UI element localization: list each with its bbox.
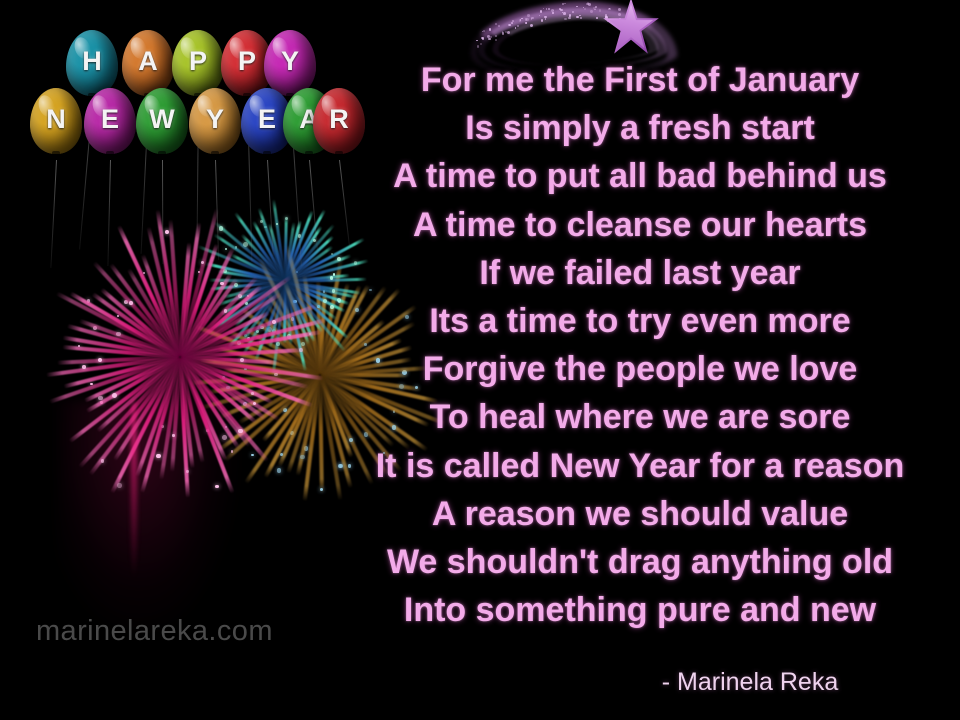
sparkle-dot [482, 31, 483, 32]
firework-ray [209, 373, 321, 394]
sparkle-dot [613, 22, 615, 24]
balloon-letter: Y [264, 30, 316, 96]
firework-spark [272, 320, 276, 324]
firework-spark [251, 392, 254, 395]
sparkle-dot [530, 24, 533, 27]
balloon-knot [106, 151, 114, 160]
sparkle-dot [605, 16, 607, 18]
poem-line: Its a time to try even more [320, 297, 960, 345]
firework-ray [239, 305, 321, 376]
firework-ray [57, 355, 180, 365]
poem-line: Into something pure and new [320, 586, 960, 634]
sparkle-dot [502, 31, 504, 33]
sparkle-dot [560, 9, 563, 12]
firework-ray [46, 355, 180, 377]
firework-ray [178, 272, 232, 358]
firework-ray [284, 281, 311, 345]
sparkle-dot [618, 8, 621, 11]
balloon-string [107, 160, 111, 266]
firework-ray [209, 279, 285, 283]
firework-spark [274, 373, 277, 376]
sparkle-dot [593, 7, 595, 9]
firework-ray [49, 355, 181, 404]
sparkle-dot [481, 37, 483, 39]
firework-ray [180, 330, 322, 359]
sparkle-dot [543, 8, 544, 9]
firework-ray [178, 247, 235, 358]
firework-ray [222, 280, 285, 299]
balloon-letter: W [136, 88, 188, 154]
firework-spark [251, 454, 254, 457]
firework-ray [179, 355, 274, 404]
firework-ray [79, 319, 181, 359]
balloon-string [162, 160, 163, 264]
firework-spark [226, 386, 230, 390]
sparkle-dot [508, 24, 511, 27]
poem-line: It is called New Year for a reason [320, 442, 960, 490]
sparkle-dot [576, 16, 579, 19]
sparkle-dot [599, 9, 602, 12]
firework-spark [238, 429, 242, 433]
sparkle-dot [546, 8, 548, 10]
balloon-string [50, 160, 57, 268]
sparkle-dot [559, 8, 561, 10]
firework-spark [90, 383, 92, 385]
firework-ray [84, 355, 181, 402]
firework-ray [286, 374, 321, 473]
balloon-knot [158, 151, 166, 160]
sparkle-dot [564, 3, 565, 4]
firework-spark [304, 446, 308, 450]
firework-ray [178, 243, 219, 357]
firework-ray [224, 373, 322, 461]
firework-ray [266, 291, 322, 376]
poem-line: We shouldn't drag anything old [320, 538, 960, 586]
firework-ray [191, 373, 320, 385]
poem-line: A reason we should value [320, 490, 960, 538]
sparkle-dot [569, 16, 570, 17]
firework-core [158, 333, 203, 378]
firework-ray [63, 355, 181, 389]
firework-ray [117, 225, 182, 358]
firework-ray [92, 292, 182, 358]
firework-ray [180, 355, 324, 380]
poem-line: A time to put all bad behind us [320, 152, 960, 200]
firework-ground-glow [58, 400, 238, 630]
balloon-body: N [30, 88, 82, 154]
sparkle-dot [502, 32, 505, 35]
sparkle-dot [627, 13, 630, 16]
sparkle-dot [614, 21, 615, 22]
firework-spark [116, 332, 120, 336]
balloon-e-1-1: E [84, 88, 136, 154]
sparkle-dot [539, 15, 540, 16]
sparkle-dot [527, 14, 530, 17]
firework-ray [56, 292, 181, 359]
firework-core [271, 266, 299, 294]
firework-spark [224, 309, 228, 313]
firework-spark [82, 365, 86, 369]
poem-line: A time to cleanse our hearts [320, 201, 960, 249]
firework-ray [179, 292, 282, 359]
firework-ray [284, 281, 307, 371]
firework-spark [260, 326, 263, 329]
sparkle-dot [580, 17, 582, 19]
balloon-knot [52, 151, 60, 160]
sparkle-dot [590, 10, 593, 13]
firework-ray [278, 374, 322, 467]
sparkle-dot [551, 9, 554, 12]
firework-ray [258, 258, 322, 376]
firework-ray [180, 355, 280, 365]
firework-spark [272, 329, 276, 333]
balloon-body: A [122, 30, 174, 96]
firework-ray [284, 281, 324, 334]
firework-spark [259, 341, 262, 344]
firework-ray [214, 234, 286, 283]
sparkle-dot [520, 19, 522, 21]
balloon-y-0-4: Y [264, 30, 316, 96]
sparkle-dot [572, 11, 574, 13]
firework-ray [284, 226, 323, 283]
firework-ray [242, 281, 286, 341]
firework-ray [69, 291, 181, 358]
balloon-knot [211, 151, 219, 160]
firework-ray [284, 222, 296, 282]
firework-spark [223, 269, 227, 273]
sparkle-dot [587, 2, 589, 4]
firework-spark [129, 301, 133, 305]
poem-text-block: For me the First of JanuaryIs simply a f… [320, 56, 960, 634]
firework-spark [201, 261, 204, 264]
new-year-greeting-image: HAPPYNEWYEAR For me the First of January… [0, 0, 960, 720]
firework-ray [180, 318, 328, 359]
firework-spark [243, 402, 247, 406]
firework-spark [237, 341, 241, 345]
sparkle-dot [531, 17, 534, 20]
firework-spark [124, 300, 128, 304]
firework-ray [109, 263, 182, 358]
sparkle-dot [515, 27, 517, 29]
firework-ray [254, 281, 286, 361]
firework-ray [296, 374, 322, 475]
sparkle-dot [562, 12, 564, 14]
firework-ray [238, 373, 321, 424]
balloon-p-0-2: P [172, 30, 224, 96]
firework-ray [272, 281, 287, 375]
firework-spark [253, 402, 256, 405]
sparkle-dot [517, 25, 519, 27]
firework-ray [242, 325, 322, 376]
sparkle-dot [507, 31, 510, 34]
sparkle-dot [488, 38, 491, 41]
sparkle-dot [594, 9, 596, 11]
firework-ray [156, 210, 182, 357]
sparkle-dot [552, 12, 554, 14]
firework-ray [218, 280, 286, 306]
firework-ray [241, 281, 286, 357]
firework-spark [244, 368, 247, 371]
balloon-string [267, 160, 274, 256]
sparkle-dot [588, 3, 591, 6]
sparkle-dot [495, 23, 497, 25]
firework-ray [146, 226, 181, 357]
sparkle-dot [490, 36, 492, 38]
firework-ray [220, 280, 286, 315]
firework-ray [228, 281, 286, 349]
firework-ray [282, 279, 321, 375]
sparkle-dot [563, 12, 566, 15]
sparkle-dot [483, 30, 485, 32]
firework-spark [143, 272, 145, 274]
sparkle-dot [521, 18, 522, 19]
firework-spark [98, 358, 102, 362]
sparkle-dot [541, 19, 544, 22]
firework-ray [284, 281, 293, 345]
balloon-knot [305, 151, 313, 160]
firework-spark [112, 393, 117, 398]
balloon-knot [263, 151, 271, 160]
sparkle-dot [629, 18, 631, 20]
firework-ray [180, 355, 309, 389]
balloon-letter: N [30, 88, 82, 154]
sparkle-dot [605, 16, 607, 18]
firework-spark [78, 345, 80, 347]
balloon-w-1-2: W [136, 88, 188, 154]
firework-ray [227, 329, 321, 377]
firework-spark [240, 358, 244, 362]
firework-ray [169, 220, 182, 358]
sparkle-dot [495, 35, 497, 37]
sparkle-dot [607, 20, 609, 22]
firework-ray [205, 262, 285, 283]
balloon-body: Y [189, 88, 241, 154]
balloon-y-1-3: Y [189, 88, 241, 154]
firework-ray [265, 302, 321, 375]
firework-spark [245, 302, 247, 304]
sparkle-dot [525, 22, 528, 25]
firework-spark [165, 230, 169, 234]
firework-spark [247, 295, 249, 297]
balloon-letter: A [122, 30, 174, 96]
balloon-letter: P [172, 30, 224, 96]
sparkle-dot [623, 20, 626, 23]
firework-ray [100, 288, 181, 359]
firework-ray [178, 222, 201, 358]
firework-ray [67, 324, 181, 359]
balloon-cluster: HAPPYNEWYEAR [0, 0, 370, 230]
balloon-letter: H [66, 30, 118, 96]
sparkle-dot [505, 31, 507, 33]
watermark-label: marinelareka.com [36, 615, 273, 648]
firework-spark [300, 455, 304, 459]
firework-spark [87, 299, 90, 302]
firework-ray [92, 261, 181, 359]
sparkle-dot [495, 39, 497, 41]
firework-spark [301, 342, 305, 346]
firework-spark [287, 334, 291, 338]
firework-spark [299, 348, 303, 352]
firework-ray [178, 242, 191, 357]
firework-spark [293, 300, 296, 303]
firework-ray [179, 285, 263, 359]
balloon-string [215, 160, 219, 260]
sparkle-dot [477, 45, 479, 47]
firework-spark [244, 334, 247, 337]
balloon-h-0-0: H [66, 30, 118, 96]
sparkle-dot [608, 8, 610, 10]
balloon-letter: Y [189, 88, 241, 154]
sparkle-dot [552, 12, 554, 14]
sparkle-dot [619, 18, 621, 20]
sparkle-dot [531, 18, 532, 19]
poem-line: To heal where we are sore [320, 393, 960, 441]
firework-ray [199, 358, 320, 377]
firework-spark [238, 294, 243, 299]
firework-ray [283, 281, 286, 343]
sparkle-dot [545, 18, 546, 19]
sparkle-dot [509, 24, 511, 26]
sparkle-dot [498, 25, 500, 27]
firework-spark [235, 246, 237, 248]
sparkle-dot [526, 18, 529, 21]
firework-spark [277, 468, 281, 472]
sparkle-dot [609, 8, 610, 9]
firework-ray [62, 336, 180, 359]
firework-spark [256, 330, 259, 333]
firework-ray [269, 281, 287, 348]
balloon-body: E [84, 88, 136, 154]
sparkle-dot [614, 23, 616, 25]
firework-ray [141, 254, 182, 357]
sparkle-dot [569, 14, 571, 16]
sparkle-dot [562, 3, 564, 5]
firework-ray [209, 280, 285, 291]
firework-ray [179, 276, 259, 358]
poem-line: For me the First of January [320, 56, 960, 104]
firework-ray [180, 348, 303, 359]
sparkle-dot [548, 8, 550, 10]
firework-ray [218, 346, 321, 377]
sparkle-dot [605, 14, 607, 16]
firework-spark [291, 317, 294, 320]
star-icon-highlight [608, 4, 654, 50]
firework-ray [259, 313, 322, 376]
poem-line: If we failed last year [320, 249, 960, 297]
sparkle-dot [525, 18, 528, 21]
firework-spark [247, 337, 250, 340]
firework-spark [222, 376, 225, 379]
firework-ray [231, 254, 286, 283]
firework-ray [285, 244, 322, 375]
firework-spark [243, 242, 248, 247]
star-icon [602, 0, 660, 56]
sparkle-dot [564, 18, 567, 21]
poem-line: Forgive the people we love [320, 345, 960, 393]
balloon-letter: E [84, 88, 136, 154]
firework-ray [240, 233, 286, 282]
balloon-body: W [136, 88, 188, 154]
firework-ray [264, 374, 322, 478]
firework-ray [213, 280, 286, 329]
firework-ray [244, 373, 322, 483]
firework-ray [179, 311, 270, 359]
firework-ray [63, 345, 180, 359]
firework-ray [224, 368, 321, 377]
firework-spark [283, 408, 287, 412]
firework-ray [179, 303, 319, 359]
firework-spark [296, 271, 298, 273]
firework-spark [220, 282, 224, 286]
sparkle-dot [540, 10, 543, 13]
firework-ray [234, 280, 286, 327]
sparkle-dot [618, 13, 621, 16]
firework-ray [178, 277, 238, 358]
sparkle-dot [480, 43, 481, 44]
sparkle-dot [618, 20, 620, 22]
sparkle-dot [519, 19, 521, 21]
balloon-body: P [172, 30, 224, 96]
sparkle-dot [583, 7, 584, 8]
firework-spark [93, 326, 97, 330]
sparkle-dot [579, 15, 580, 16]
firework-ray [261, 373, 321, 442]
firework-spark [276, 342, 279, 345]
sparkle-dot [596, 17, 598, 19]
firework-spark [117, 315, 119, 317]
sparkle-dot [512, 20, 514, 22]
firework-ray [195, 324, 320, 376]
balloon-body: H [66, 30, 118, 96]
firework-spark [290, 431, 294, 435]
firework-ray [218, 270, 286, 283]
firework-spark [280, 453, 283, 456]
sparkle-dot [595, 6, 597, 8]
balloon-body: Y [264, 30, 316, 96]
firework-spark [248, 337, 251, 340]
balloon-string [309, 160, 318, 252]
sparkle-dot [489, 28, 492, 31]
firework-spark [267, 327, 272, 332]
sparkle-dot [586, 3, 588, 5]
firework-spark [225, 248, 228, 251]
firework-spark [309, 333, 311, 335]
poem-line: Is simply a fresh start [320, 104, 960, 152]
sparkle-dot [568, 17, 570, 19]
firework-ray [127, 268, 182, 358]
poem-attribution: - Marinela Reka [560, 668, 940, 697]
balloon-a-0-1: A [122, 30, 174, 96]
sparkle-dot [482, 37, 484, 39]
firework-spark [198, 271, 200, 273]
sparkle-dot [544, 16, 547, 19]
sparkle-dot [476, 40, 477, 41]
sparkle-dot [526, 22, 528, 24]
firework-ray [179, 275, 292, 359]
balloon-n-1-0: N [30, 88, 82, 154]
firework-ray [178, 208, 219, 358]
sparkle-dot [584, 8, 587, 11]
sparkle-dot [576, 6, 577, 7]
sparkle-dot [487, 35, 490, 38]
firework-launch-trail [131, 400, 137, 580]
firework-ray [284, 281, 316, 343]
sparkle-dot [553, 10, 554, 11]
firework-spark [234, 283, 238, 287]
sparkle-dot [511, 22, 513, 24]
